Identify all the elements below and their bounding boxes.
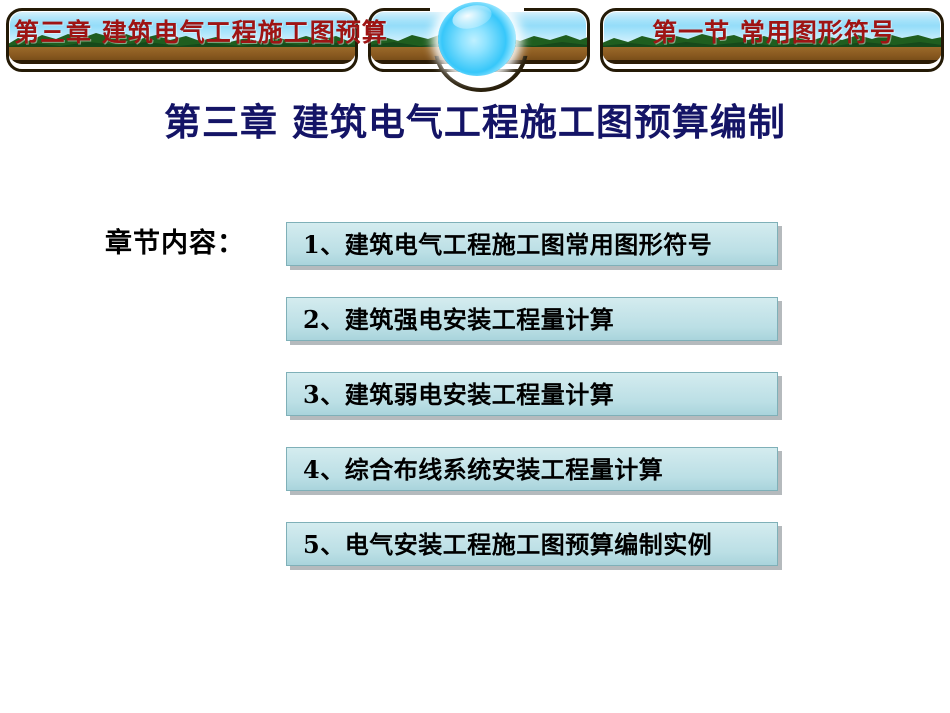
list-item-label: 3、建筑弱电安装工程量计算 bbox=[303, 373, 769, 417]
page-title: 第三章 建筑电气工程施工图预算编制 bbox=[0, 92, 950, 146]
list-item[interactable]: 2、建筑强电安装工程量计算 bbox=[286, 297, 778, 341]
chapter-banner-label: 第三章 建筑电气工程施工图预算 bbox=[14, 16, 354, 50]
chapter-contents-label: 章节内容： bbox=[105, 221, 245, 260]
header-banner: 第三章 建筑电气工程施工图预算 第一节 常用图形符号 bbox=[0, 0, 950, 80]
soil-baseline bbox=[602, 60, 942, 64]
list-item-label: 4、综合布线系统安装工程量计算 bbox=[303, 448, 769, 492]
list-item[interactable]: 3、建筑弱电安装工程量计算 bbox=[286, 372, 778, 416]
section-banner-label: 第一节 常用图形符号 bbox=[608, 16, 940, 50]
list-item[interactable]: 5、电气安装工程施工图预算编制实例 bbox=[286, 522, 778, 566]
contents-list: 1、建筑电气工程施工图常用图形符号 2、建筑强电安装工程量计算 3、建筑弱电安装… bbox=[286, 222, 786, 566]
list-item-label: 1、建筑电气工程施工图常用图形符号 bbox=[303, 223, 769, 267]
list-item[interactable]: 1、建筑电气工程施工图常用图形符号 bbox=[286, 222, 778, 266]
list-item-label: 5、电气安装工程施工图预算编制实例 bbox=[303, 523, 769, 567]
list-item-label: 2、建筑强电安装工程量计算 bbox=[303, 298, 769, 342]
list-item[interactable]: 4、综合布线系统安装工程量计算 bbox=[286, 447, 778, 491]
soil-baseline bbox=[8, 60, 356, 64]
